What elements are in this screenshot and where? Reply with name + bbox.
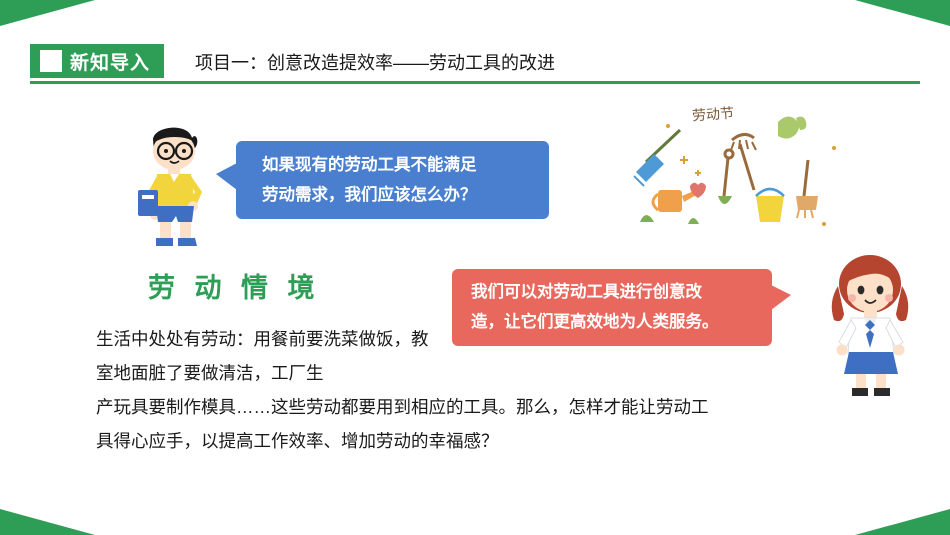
bubble-red-line-1: 我们可以对劳动工具进行创意改	[471, 277, 772, 307]
corner-decoration-top-left	[0, 0, 95, 26]
body-paragraph: 生活中处处有劳动：用餐前要洗菜做饭，教室地面脏了要做清洁，工厂生 产玩具要制作模…	[96, 322, 796, 458]
badge-label: 新知导入	[70, 48, 150, 75]
body-line-1: 生活中处处有劳动：用餐前要洗菜做饭，教室地面脏了要做清洁，工厂生	[96, 322, 436, 390]
slide-header: 新知导入 项目一：创意改造提效率——劳动工具的改进	[30, 44, 920, 84]
body-line-3: 具得心应手，以提高工作效率、增加劳动的幸福感？	[96, 424, 796, 458]
bubble-blue-line-2: 劳动需求，我们应该怎么办？	[262, 180, 549, 210]
page-title: 项目一：创意改造提效率——劳动工具的改进	[195, 49, 555, 75]
header-underline	[30, 81, 920, 84]
bubble-blue-line-1: 如果现有的劳动工具不能满足	[262, 150, 549, 180]
girl-character-illustration	[818, 250, 928, 400]
badge-square-icon	[40, 50, 62, 72]
corner-decoration-top-right	[855, 0, 950, 26]
body-line-2: 产玩具要制作模具……这些劳动都要用到相应的工具。那么，怎样才能让劳动工	[96, 390, 796, 424]
corner-decoration-bottom-right	[855, 509, 950, 535]
speech-bubble-blue: 如果现有的劳动工具不能满足 劳动需求，我们应该怎么办？	[236, 141, 549, 219]
corner-decoration-bottom-left	[0, 509, 95, 535]
section-heading: 劳 动 情 境	[148, 266, 321, 305]
doodle-title-label: 劳动节	[691, 103, 734, 126]
labor-day-doodle-cluster: 劳动节	[628, 104, 843, 234]
section-badge: 新知导入	[30, 44, 164, 78]
